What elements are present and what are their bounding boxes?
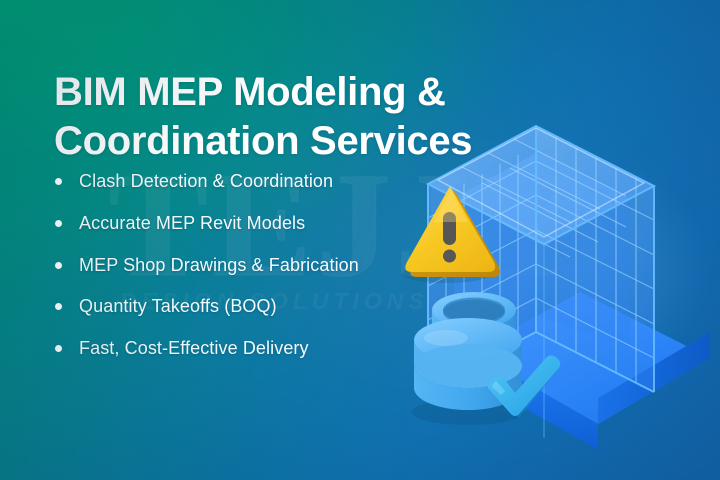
bullet-dot-icon [55,345,62,352]
bullet-dot-icon [55,303,62,310]
banner-title-line-1: BIM MEP Modeling & [54,68,574,117]
list-item-label: Clash Detection & Coordination [79,171,333,191]
bullet-dot-icon [55,178,62,185]
bim-illustration [392,120,720,450]
list-item-label: Fast, Cost-Effective Delivery [79,338,309,358]
marketing-banner: TEJJY DESIGN SOLUTIONS BIM MEP Modeling … [0,0,720,480]
list-item-label: Accurate MEP Revit Models [79,213,305,233]
list-item-label: MEP Shop Drawings & Fabrication [79,255,359,275]
bullet-dot-icon [55,262,62,269]
list-item-label: Quantity Takeoffs (BOQ) [79,296,277,316]
bullet-dot-icon [55,220,62,227]
